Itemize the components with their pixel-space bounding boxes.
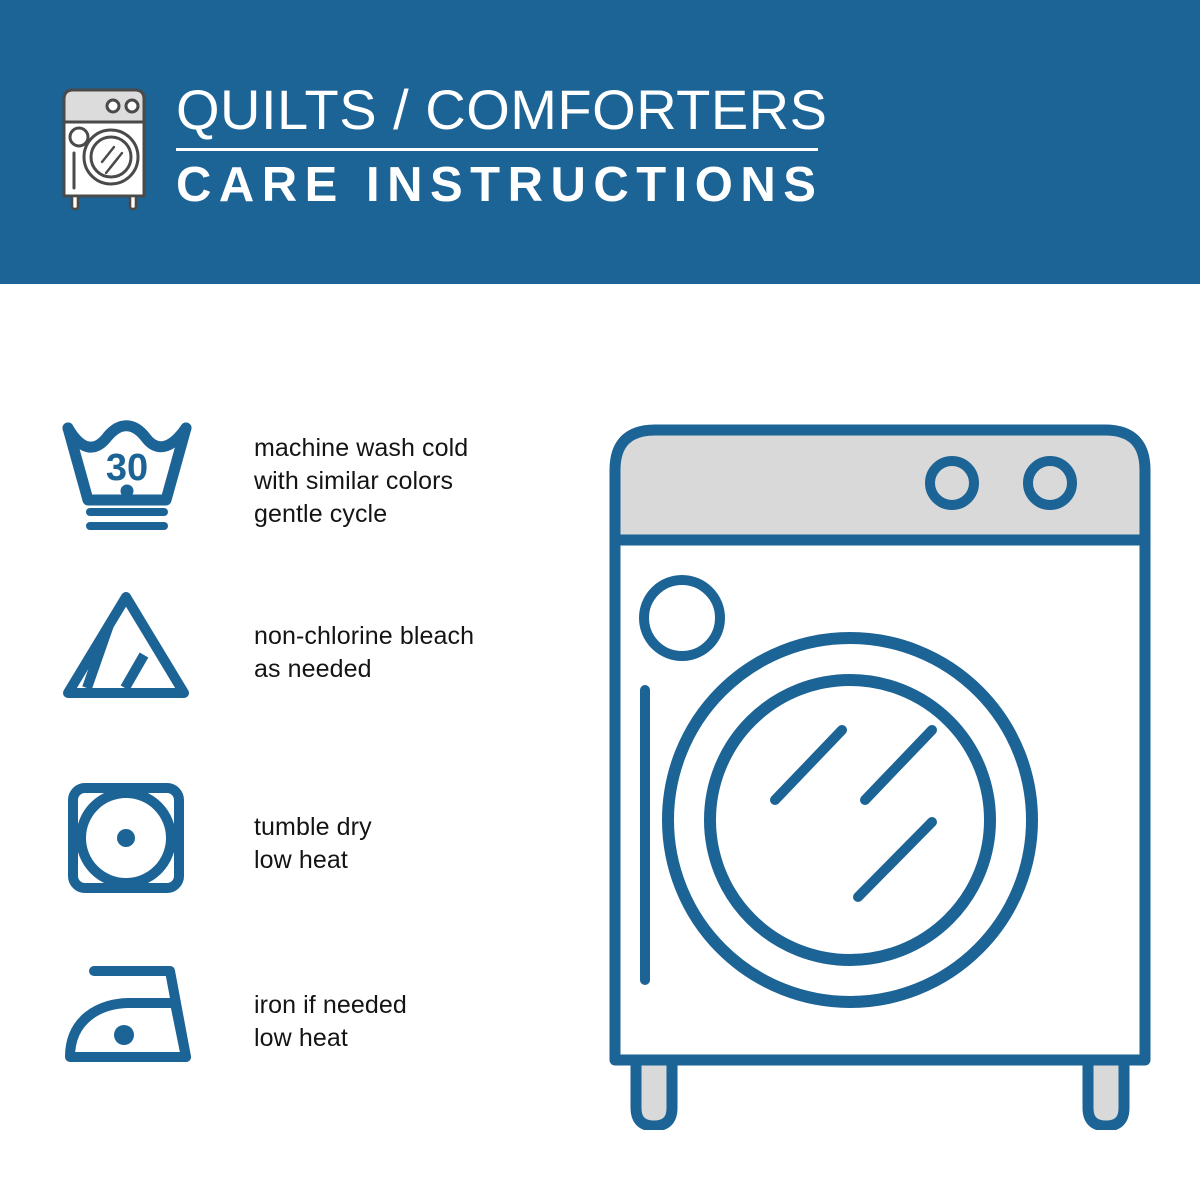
- header-banner: QUILTS / COMFORTERS CARE INSTRUCTIONS: [0, 0, 1200, 284]
- care-label-iron: iron if needed low heat: [192, 959, 407, 1055]
- page-subtitle: CARE INSTRUCTIONS: [176, 157, 827, 213]
- page-title: QUILTS / COMFORTERS: [176, 80, 827, 140]
- tumble-dry-low-heat-icon: [62, 781, 192, 899]
- washing-machine-icon: [52, 78, 164, 210]
- care-label-bleach: non-chlorine bleach as needed: [192, 587, 474, 686]
- control-panel: [615, 430, 1145, 540]
- care-label-machine-wash: machine wash cold with similar colors ge…: [192, 416, 468, 531]
- iron-low-heat-icon: [62, 959, 192, 1077]
- header-content: QUILTS / COMFORTERS CARE INSTRUCTIONS: [52, 78, 827, 213]
- care-instructions-list: 30 machine wash cold with similar colors…: [0, 284, 560, 1200]
- washer-foot: [1088, 1060, 1124, 1126]
- care-row-iron: iron if needed low heat: [62, 959, 407, 1077]
- title-divider: [176, 148, 818, 151]
- machine-wash-basin-30-gentle-icon: 30: [62, 416, 192, 534]
- header-title-block: QUILTS / COMFORTERS CARE INSTRUCTIONS: [176, 78, 827, 213]
- care-row-machine-wash: 30 machine wash cold with similar colors…: [62, 416, 468, 534]
- front-load-washing-machine-illustration: [590, 400, 1170, 1130]
- wash-temperature-label: 30: [106, 447, 148, 489]
- care-row-tumble-dry: tumble dry low heat: [62, 781, 372, 899]
- non-chlorine-bleach-triangle-icon: [62, 587, 192, 705]
- washer-foot: [636, 1060, 672, 1126]
- care-row-bleach: non-chlorine bleach as needed: [62, 587, 474, 705]
- care-label-tumble-dry: tumble dry low heat: [192, 781, 372, 877]
